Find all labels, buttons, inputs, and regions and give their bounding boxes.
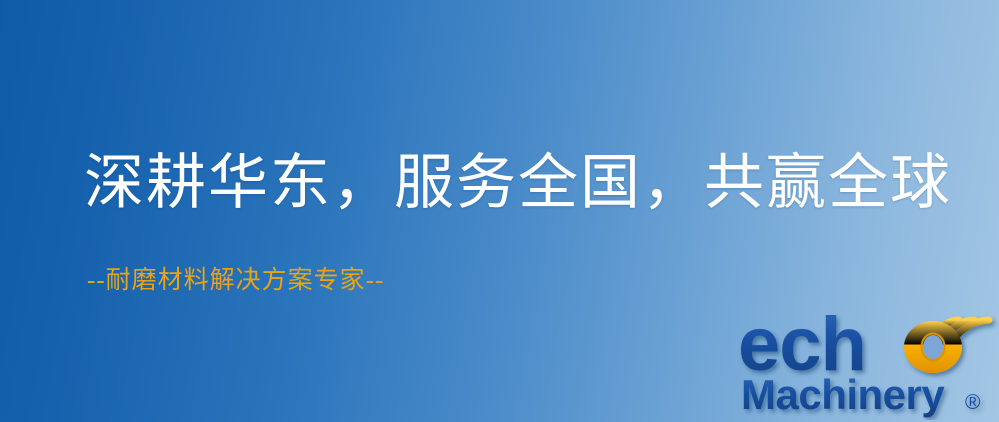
hero-banner: 深耕华东，服务全国，共赢全球 --耐磨材料解决方案专家-- bbox=[0, 0, 999, 422]
echo-machinery-logo[interactable]: ech Machinery ® bbox=[737, 292, 999, 420]
banner-subtitle: --耐磨材料解决方案专家-- bbox=[87, 266, 384, 296]
registered-trademark-icon: ® bbox=[965, 391, 981, 414]
logo-tagline: Machinery bbox=[741, 371, 945, 418]
banner-headline: 深耕华东，服务全国，共赢全球 bbox=[84, 152, 952, 215]
logo-wordmark-o bbox=[904, 321, 962, 373]
